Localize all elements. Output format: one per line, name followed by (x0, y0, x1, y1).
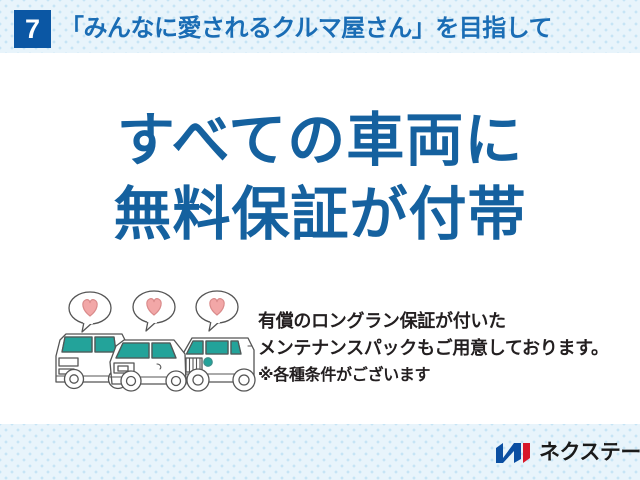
three-cars-illustration (52, 288, 260, 400)
page-title: すべての車両に 無料保証が付帯 (0, 104, 640, 252)
heart-bubble-1 (69, 292, 111, 332)
brand-logo: ネクステージ (494, 438, 640, 468)
heart-bubble-2 (133, 291, 175, 331)
cars-hearts-svg (52, 288, 260, 400)
heart-bubble-3 (196, 291, 238, 331)
body-copy-line-2: メンテナンスパックもご用意しております。 (258, 335, 640, 362)
body-copy-note: ※各種条件がございます (258, 362, 640, 389)
car-suv-right (183, 338, 255, 391)
brand-name: ネクステージ (539, 440, 640, 466)
promo-banner: 7 「みんなに愛されるクルマ屋さん」を目指して すべての車両に 無料保証が付帯 (0, 0, 640, 480)
headline-line-1: すべての車両に (0, 104, 640, 178)
car-minivan-center (110, 340, 186, 391)
header-title: 「みんなに愛されるクルマ屋さん」を目指して (60, 12, 552, 46)
nextage-n-logo-icon (494, 440, 532, 466)
headline-line-2: 無料保証が付帯 (0, 178, 640, 252)
section-number-badge: 7 (14, 10, 51, 48)
body-copy: 有償のロングラン保証が付いた メンテナンスパックもご用意しております。 ※各種条… (258, 308, 640, 389)
body-copy-line-1: 有償のロングラン保証が付いた (258, 308, 640, 335)
